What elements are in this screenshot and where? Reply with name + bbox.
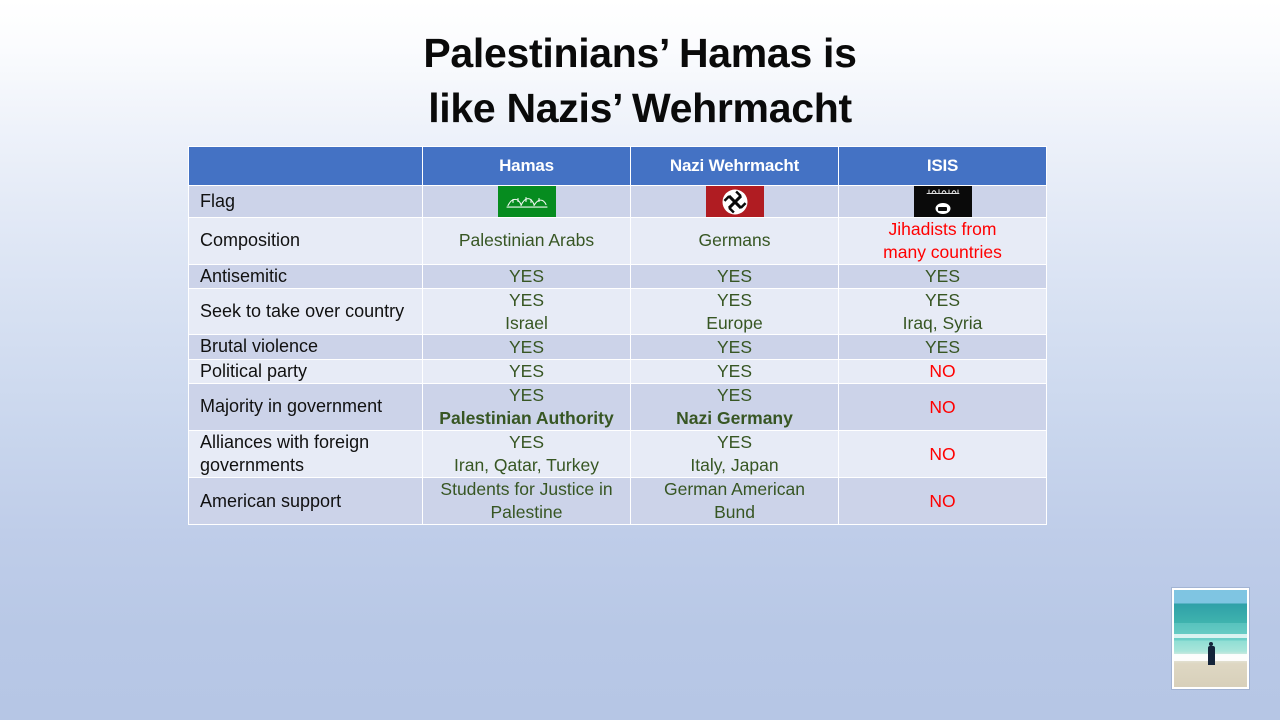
- cell-primary-value: NO: [839, 490, 1046, 513]
- hamas-flag-icon: [498, 186, 556, 217]
- table-row: Alliances with foreign governmentsYESIra…: [189, 431, 1046, 478]
- row-label-american-support: American support: [189, 478, 422, 524]
- row-label-antisemitic: Antisemitic: [189, 265, 422, 288]
- cell-primary-value: YES: [423, 384, 630, 407]
- nazi-flag-icon: [706, 186, 764, 217]
- table-header-corner: [189, 147, 422, 185]
- cell-american-support-isis: NO: [839, 478, 1046, 524]
- page-title: Palestinians’ Hamas is like Nazis’ Wehrm…: [0, 26, 1280, 137]
- cell-composition-isis: Jihadists frommany countries: [839, 218, 1046, 264]
- row-label-majority-in-government: Majority in government: [189, 384, 422, 430]
- cell-alliances-with-foreign-governments-hamas: YESIran, Qatar, Turkey: [423, 431, 630, 478]
- table-header-nazi-wehrmacht: Nazi Wehrmacht: [631, 147, 838, 185]
- cell-secondary-value: Iraq, Syria: [839, 312, 1046, 335]
- cell-secondary-value: Italy, Japan: [631, 454, 838, 477]
- table-row: Seek to take over countryYESIsraelYESEur…: [189, 289, 1046, 335]
- beach-photo-image: [1174, 590, 1247, 687]
- cell-primary-value: YES: [423, 360, 630, 383]
- cell-primary-value: Students for Justice in: [423, 478, 630, 501]
- table-row: Political partyYESYESNO: [189, 360, 1046, 383]
- table-row: Brutal violenceYESYESYES: [189, 335, 1046, 358]
- row-label-alliances-with-foreign-governments: Alliances with foreign governments: [189, 431, 422, 478]
- cell-flag-hamas: [423, 186, 630, 217]
- cell-primary-value: YES: [631, 360, 838, 383]
- cell-primary-value: YES: [631, 384, 838, 407]
- cell-composition-nazi-wehrmacht: Germans: [631, 218, 838, 264]
- cell-primary-value: NO: [839, 360, 1046, 383]
- cell-brutal-violence-isis: YES: [839, 335, 1046, 358]
- cell-flag-nazi-wehrmacht: [631, 186, 838, 217]
- cell-primary-value: NO: [839, 443, 1046, 466]
- table-row: AntisemiticYESYESYES: [189, 265, 1046, 288]
- table-header: Hamas Nazi Wehrmacht ISIS: [189, 147, 1046, 185]
- table-row: Majority in governmentYESPalestinian Aut…: [189, 384, 1046, 430]
- cell-secondary-value: Palestine: [423, 501, 630, 524]
- cell-political-party-isis: NO: [839, 360, 1046, 383]
- person-silhouette: [1208, 646, 1215, 665]
- page-title-line-1: Palestinians’ Hamas is: [0, 26, 1280, 81]
- cell-majority-in-government-nazi-wehrmacht: YESNazi Germany: [631, 384, 838, 430]
- cell-primary-value: YES: [631, 289, 838, 312]
- cell-primary-value: YES: [423, 431, 630, 454]
- cell-majority-in-government-hamas: YESPalestinian Authority: [423, 384, 630, 430]
- cell-secondary-value: Iran, Qatar, Turkey: [423, 454, 630, 477]
- cell-american-support-nazi-wehrmacht: German AmericanBund: [631, 478, 838, 524]
- comparison-table: Hamas Nazi Wehrmacht ISIS FlagCompositio…: [188, 146, 1047, 525]
- cell-primary-value: YES: [423, 289, 630, 312]
- cell-american-support-hamas: Students for Justice inPalestine: [423, 478, 630, 524]
- cell-secondary-value: Palestinian Authority: [423, 407, 630, 430]
- cell-brutal-violence-nazi-wehrmacht: YES: [631, 335, 838, 358]
- cell-flag-isis: [839, 186, 1046, 217]
- cell-secondary-value: many countries: [839, 241, 1046, 264]
- cell-primary-value: YES: [631, 265, 838, 288]
- table-header-hamas: Hamas: [423, 147, 630, 185]
- cell-secondary-value: Bund: [631, 501, 838, 524]
- cell-antisemitic-hamas: YES: [423, 265, 630, 288]
- row-label-seek-to-take-over-country: Seek to take over country: [189, 289, 422, 335]
- cell-secondary-value: Europe: [631, 312, 838, 335]
- page-title-line-2: like Nazis’ Wehrmacht: [0, 81, 1280, 136]
- cell-alliances-with-foreign-governments-nazi-wehrmacht: YESItaly, Japan: [631, 431, 838, 478]
- cell-primary-value: YES: [839, 265, 1046, 288]
- cell-majority-in-government-isis: NO: [839, 384, 1046, 430]
- row-label-composition: Composition: [189, 218, 422, 264]
- row-label-political-party: Political party: [189, 360, 422, 383]
- cell-political-party-hamas: YES: [423, 360, 630, 383]
- cell-primary-value: Jihadists from: [839, 218, 1046, 241]
- row-label-flag: Flag: [189, 186, 422, 217]
- cell-primary-value: YES: [839, 289, 1046, 312]
- cell-secondary-value: Nazi Germany: [631, 407, 838, 430]
- corner-photo-thumbnail: [1172, 588, 1249, 689]
- cell-seek-to-take-over-country-nazi-wehrmacht: YESEurope: [631, 289, 838, 335]
- isis-flag-icon: [914, 186, 972, 217]
- cell-seek-to-take-over-country-isis: YESIraq, Syria: [839, 289, 1046, 335]
- table-row: Flag: [189, 186, 1046, 217]
- cell-primary-value: German American: [631, 478, 838, 501]
- wave-line-far: [1174, 634, 1247, 639]
- cell-secondary-value: Israel: [423, 312, 630, 335]
- table-header-isis: ISIS: [839, 147, 1046, 185]
- table-row: American supportStudents for Justice inP…: [189, 478, 1046, 524]
- cell-primary-value: Germans: [631, 229, 838, 252]
- cell-primary-value: YES: [423, 265, 630, 288]
- cell-primary-value: YES: [631, 336, 838, 359]
- cell-political-party-nazi-wehrmacht: YES: [631, 360, 838, 383]
- cell-seek-to-take-over-country-hamas: YESIsrael: [423, 289, 630, 335]
- cell-antisemitic-isis: YES: [839, 265, 1046, 288]
- cell-antisemitic-nazi-wehrmacht: YES: [631, 265, 838, 288]
- table-row: CompositionPalestinian ArabsGermansJihad…: [189, 218, 1046, 264]
- table-body: FlagCompositionPalestinian ArabsGermansJ…: [189, 186, 1046, 524]
- cell-primary-value: YES: [631, 431, 838, 454]
- cell-brutal-violence-hamas: YES: [423, 335, 630, 358]
- table-header-row: Hamas Nazi Wehrmacht ISIS: [189, 147, 1046, 185]
- cell-primary-value: Palestinian Arabs: [423, 229, 630, 252]
- row-label-brutal-violence: Brutal violence: [189, 335, 422, 358]
- cell-alliances-with-foreign-governments-isis: NO: [839, 431, 1046, 478]
- cell-primary-value: YES: [423, 336, 630, 359]
- cell-composition-hamas: Palestinian Arabs: [423, 218, 630, 264]
- cell-primary-value: NO: [839, 396, 1046, 419]
- cell-primary-value: YES: [839, 336, 1046, 359]
